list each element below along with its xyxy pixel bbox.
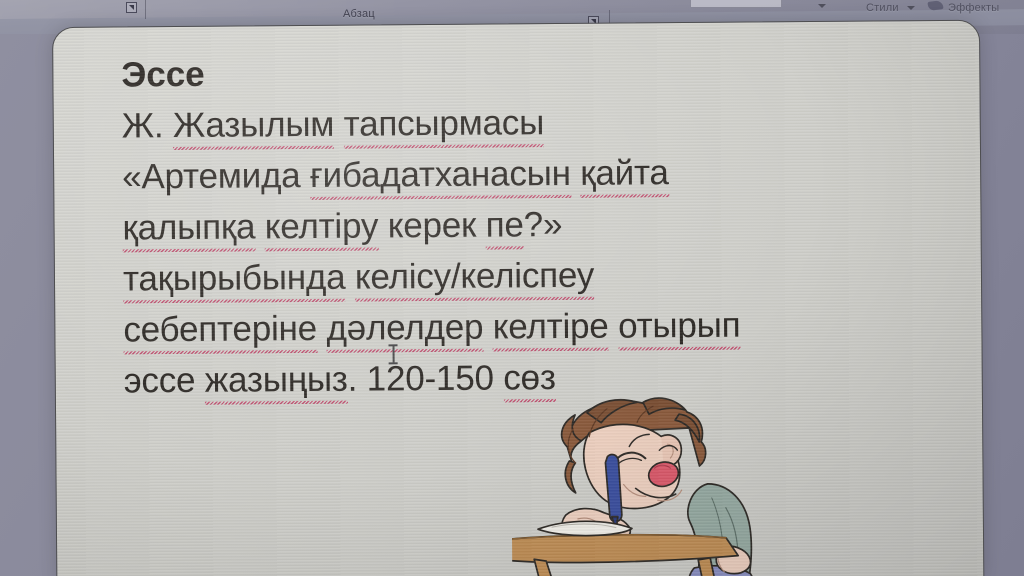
text-run: «Артемида [122,156,310,196]
text-run: . 120-150 [348,358,504,398]
slide-text-body[interactable]: Эссе Ж. Жазылым тапсырмасы «Артемида ғиб… [121,43,964,407]
text-run: ?» [524,205,563,244]
text-run: эссе [124,361,205,401]
text-run [483,308,493,347]
text-run [345,258,355,297]
misspelled-word: отырып [618,300,741,352]
misspelled-word: жазыңыз [205,354,348,406]
misspelled-word: келісу/келіспеу [355,250,595,303]
text-ibeam-cursor [388,343,397,365]
text-run [255,207,265,246]
text-run [334,105,344,144]
shape-styles-chevron-down-icon[interactable] [907,6,915,10]
slide-canvas[interactable]: Эссе Ж. Жазылым тапсырмасы «Артемида ғиб… [52,20,984,576]
slide-line-5: себептеріне дәлелдер келтіре отырып [123,298,963,356]
misspelled-word: келтіре [493,301,609,353]
misspelled-word: келтіру [265,200,379,252]
misspelled-word: пе [485,199,523,250]
text-run [608,307,618,346]
shape-styles-button-label[interactable]: Стили [866,2,899,14]
text-run: Ж. [122,106,173,145]
paragraph-dialog-launcher-left-icon[interactable] [126,2,137,13]
slide-line-4: тақырыбында келісу/келіспеу [123,247,963,305]
ibeam-stem [393,345,395,363]
text-run [317,309,327,348]
misspelled-word: ғибадатханасын [310,148,571,201]
ibeam-bottom [389,363,398,365]
screenshot-root: Абзац Стили Эффекты Рисование Эссе Ж. Жа… [0,0,1024,576]
misspelled-word: дәлелдер [326,302,483,354]
ribbon-group-label-paragraph: Абзац [343,8,375,20]
slide-heading: Эссе [121,43,961,101]
text-run: керек [378,206,486,246]
shape-gallery-item[interactable] [690,0,782,8]
text-run [571,154,581,193]
misspelled-word: қалыпқа [122,201,255,253]
misspelled-word: тақырыбында [123,252,346,305]
slide-line-1: Ж. Жазылым тапсырмасы [122,94,962,152]
slide-line-3: қалыпқа келтіру керек пе?» [122,196,962,254]
shape-gallery-more-chevron-icon[interactable] [818,4,826,8]
misspelled-word: қайта [580,147,669,199]
shape-effects-button-label[interactable]: Эффекты [948,2,999,14]
misspelled-word: себептеріне [123,303,317,356]
pen [605,454,622,521]
ribbon-group-divider-1 [145,0,146,19]
misspelled-word: тапсырмасы [344,97,545,150]
rounded-text-box[interactable]: Эссе Ж. Жазылым тапсырмасы «Артемида ғиб… [52,20,984,576]
misspelled-word: Жазылым [173,99,335,151]
tired-student-writing-cartoon [511,387,833,576]
slide-line-2: «Артемида ғибадатханасын қайта [122,145,962,203]
